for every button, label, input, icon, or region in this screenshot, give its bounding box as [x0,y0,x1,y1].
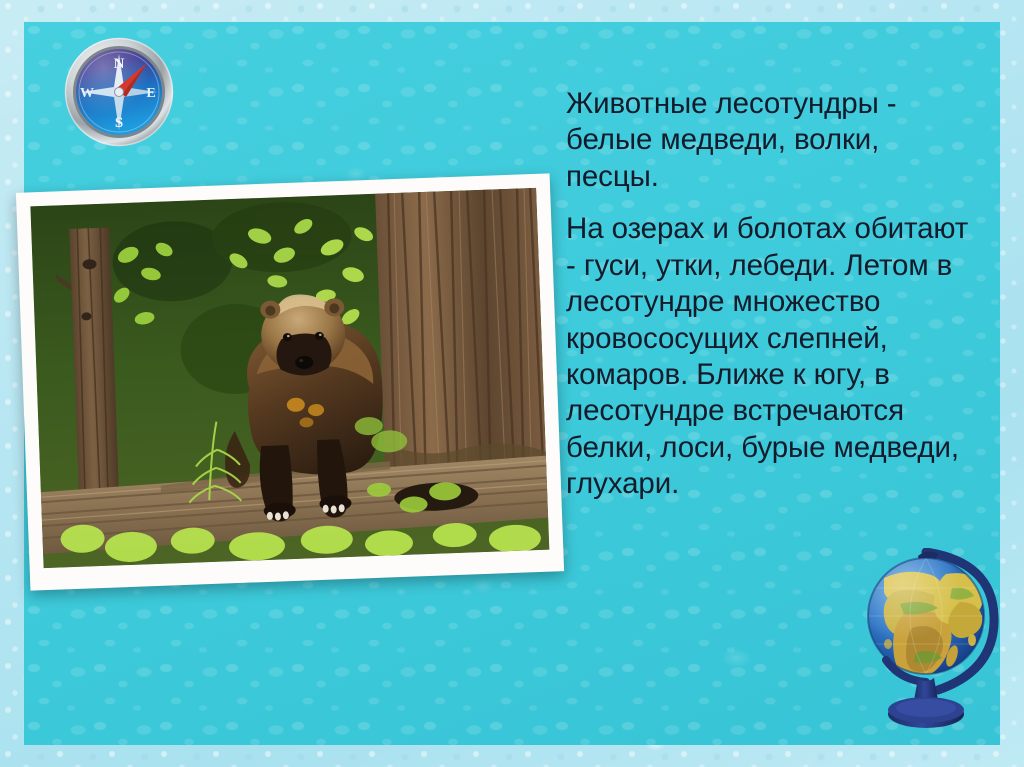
svg-text:N: N [114,56,125,72]
wolverine-photo [30,188,549,568]
svg-text:W: W [80,86,94,101]
svg-text:S: S [115,115,123,131]
globe-icon [860,548,1010,748]
svg-text:E: E [146,86,155,101]
paragraph-1: Животные лесотундры - белые медведи, вол… [566,86,978,195]
slide: N E S W [0,0,1024,767]
wolverine-photo-frame [16,173,564,590]
slide-text-block: Животные лесотундры - белые медведи, вол… [566,86,978,503]
compass-icon: N E S W [63,36,175,148]
paragraph-2: На озерах и болотах обитают - гуси, утки… [566,211,978,502]
